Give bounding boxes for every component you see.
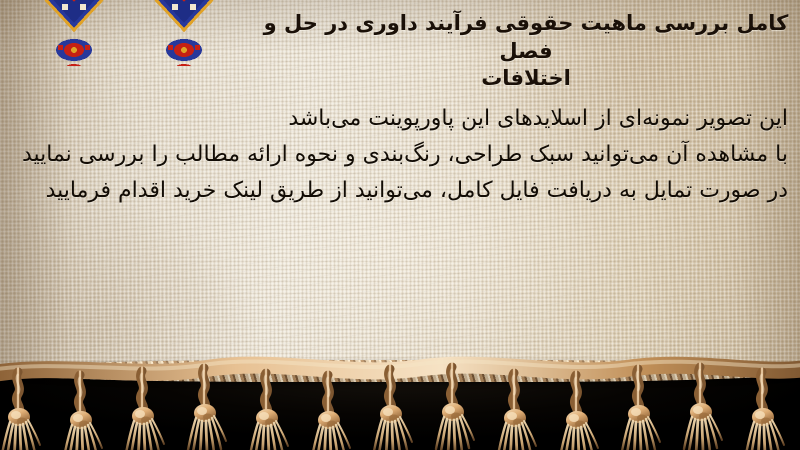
slide-canvas: کامل بررسی ماهیت حقوقی فرآیند داوری در ح…: [0, 0, 800, 450]
slide-title-line-1: کامل بررسی ماهیت حقوقی فرآیند داوری در ح…: [262, 10, 790, 65]
persian-medallion-icon: [128, 0, 240, 66]
slide-title-line-2: اختلافات: [262, 65, 790, 93]
persian-medallion-icon: [18, 0, 130, 66]
slide-body: این تصویر نمونه‌ای از اسلایدهای این پاور…: [2, 108, 788, 202]
slide-body-line-1: این تصویر نمونه‌ای از اسلایدهای این پاور…: [2, 108, 788, 130]
slide-body-line-2: با مشاهده آن می‌توانید سبک طراحی، رنگ‌بن…: [2, 144, 788, 166]
carpet-medallion-group: [0, 0, 250, 110]
carpet-tassel-fringe: [0, 356, 800, 450]
slide-body-line-3: در صورت تمایل به دریافت فایل کامل، می‌تو…: [2, 180, 788, 202]
slide-title: کامل بررسی ماهیت حقوقی فرآیند داوری در ح…: [262, 10, 790, 93]
